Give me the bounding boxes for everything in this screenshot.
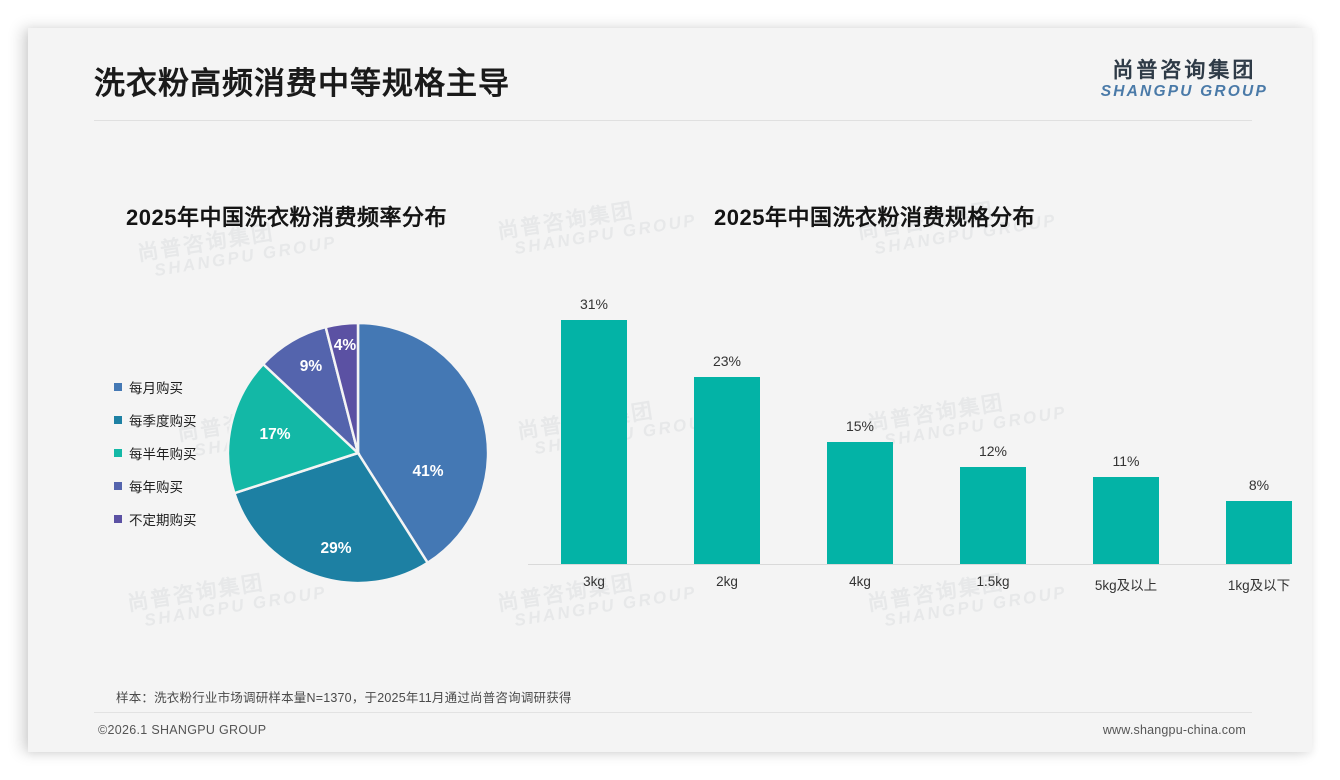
bar-value-label: 11% xyxy=(1113,453,1140,469)
legend-swatch-icon xyxy=(114,383,122,391)
copyright-text: ©2026.1 SHANGPU GROUP xyxy=(98,723,266,737)
legend-swatch-icon xyxy=(114,482,122,490)
legend-label: 每季度购买 xyxy=(129,410,197,430)
brand-logo: 尚普咨询集团 SHANGPU GROUP xyxy=(1101,60,1268,100)
bar-category-label: 1.5kg xyxy=(927,574,1059,589)
bar-category-label: 1kg及以下 xyxy=(1193,574,1312,594)
website-link[interactable]: www.shangpu-china.com xyxy=(1103,723,1246,737)
bar-category-label: 2kg xyxy=(661,574,793,589)
bar-category-label: 5kg及以上 xyxy=(1060,574,1192,594)
pie-svg: 41% 29% 17% 9% 4% xyxy=(223,318,493,588)
pie-slice-label: 41% xyxy=(412,463,443,480)
bar-chart-title: 2025年中国洗衣粉消费规格分布 xyxy=(714,200,1035,232)
watermark-cn: 尚普咨询集团 xyxy=(496,191,695,243)
bar-group: 12% xyxy=(927,268,1059,564)
bar-chart: 31% 23% 15% 12% 11% xyxy=(498,268,1298,598)
bar[interactable]: 31% xyxy=(561,320,627,564)
legend-label: 不定期购买 xyxy=(129,509,197,529)
header-divider xyxy=(94,120,1252,121)
bar-group: 15% xyxy=(794,268,926,564)
legend-item[interactable]: 每年购买 xyxy=(114,469,224,502)
bar[interactable]: 23% xyxy=(694,377,760,564)
pie-slice-label: 17% xyxy=(259,426,290,443)
bar[interactable]: 12% xyxy=(960,467,1026,564)
pie-slice-label: 4% xyxy=(334,337,357,354)
bar-value-label: 31% xyxy=(580,296,608,312)
legend-item[interactable]: 每季度购买 xyxy=(114,403,224,436)
bar[interactable]: 11% xyxy=(1093,477,1159,564)
bar-value-label: 23% xyxy=(713,353,741,369)
legend-item[interactable]: 每月购买 xyxy=(114,370,224,403)
bar-group: 31% xyxy=(528,268,660,564)
legend-label: 每半年购买 xyxy=(129,443,197,463)
bar-category-label: 4kg xyxy=(794,574,926,589)
brand-logo-en: SHANGPU GROUP xyxy=(1101,84,1268,100)
bar-group: 8% xyxy=(1193,268,1312,564)
slide-footer: ©2026.1 SHANGPU GROUP www.shangpu-china.… xyxy=(28,712,1312,752)
bar[interactable]: 15% xyxy=(827,442,893,564)
pie-legend: 每月购买 每季度购买 每半年购买 每年购买 不定期购买 xyxy=(114,370,224,535)
bar-value-label: 15% xyxy=(846,418,874,434)
pie-slice-label: 29% xyxy=(320,540,351,557)
watermark-en: SHANGPU GROUP xyxy=(153,233,338,280)
watermark-en: SHANGPU GROUP xyxy=(513,211,698,258)
legend-label: 每年购买 xyxy=(129,476,183,496)
pie-chart-title: 2025年中国洗衣粉消费频率分布 xyxy=(126,200,447,232)
legend-item[interactable]: 不定期购买 xyxy=(114,502,224,535)
brand-logo-cn: 尚普咨询集团 xyxy=(1101,60,1268,82)
legend-label: 每月购买 xyxy=(129,377,183,397)
slide-header: 洗衣粉高频消费中等规格主导 尚普咨询集团 SHANGPU GROUP xyxy=(28,28,1312,122)
bar-axis-line xyxy=(528,564,1290,565)
bar-plot-area: 31% 23% 15% 12% 11% xyxy=(528,268,1290,564)
legend-swatch-icon xyxy=(114,449,122,457)
sample-note: 样本：洗衣粉行业市场调研样本量N=1370，于2025年11月通过尚普咨询调研获… xyxy=(116,687,572,706)
bar-group: 23% xyxy=(661,268,793,564)
page-title: 洗衣粉高频消费中等规格主导 xyxy=(94,58,510,103)
bar-category-label: 3kg xyxy=(528,574,660,589)
bar-value-label: 12% xyxy=(979,443,1007,459)
pie-chart: 每月购买 每季度购买 每半年购买 每年购买 不定期购买 xyxy=(88,298,518,608)
bar-group: 11% xyxy=(1060,268,1192,564)
bar[interactable]: 8% xyxy=(1226,501,1292,564)
bar-value-label: 8% xyxy=(1249,477,1269,493)
legend-swatch-icon xyxy=(114,515,122,523)
watermark: 尚普咨询集团 SHANGPU GROUP xyxy=(496,191,698,261)
slide-canvas: 尚普咨询集团 SHANGPU GROUP 尚普咨询集团 SHANGPU GROU… xyxy=(28,28,1312,752)
legend-swatch-icon xyxy=(114,416,122,424)
pie-slice-label: 9% xyxy=(300,358,323,375)
legend-item[interactable]: 每半年购买 xyxy=(114,436,224,469)
